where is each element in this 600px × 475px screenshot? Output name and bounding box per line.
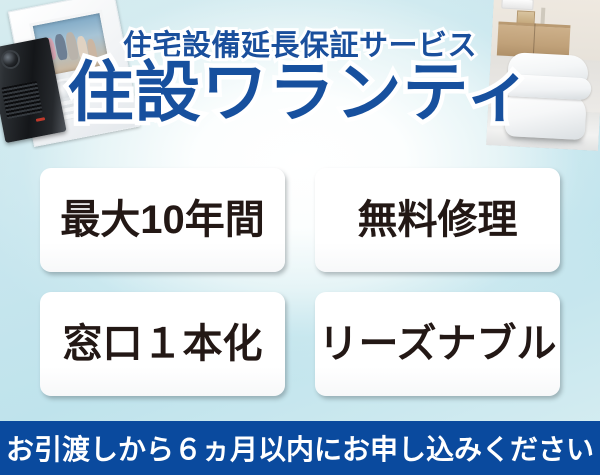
wall-unit bbox=[501, 0, 534, 10]
feature-box-reasonable: リーズナブル bbox=[315, 292, 560, 396]
feature-box-single-contact: 窓口１本化 bbox=[40, 292, 285, 396]
promo-banner: 住宅設備延長保証サービス 住設ワランティ 最大10年間 無料修理 窓口１本化 リ… bbox=[0, 0, 600, 475]
toilet-washlet-photo bbox=[486, 0, 600, 151]
feature-box-free-repair: 無料修理 bbox=[315, 168, 560, 272]
feature-box-max-years: 最大10年間 bbox=[40, 168, 285, 272]
video-intercom-photo bbox=[0, 0, 146, 150]
feature-label: 窓口１本化 bbox=[63, 324, 263, 364]
application-deadline-text: お引渡しから６ヵ月以内にお申し込みください bbox=[6, 428, 594, 468]
feature-grid: 最大10年間 無料修理 窓口１本化 リーズナブル bbox=[40, 168, 560, 396]
feature-label: 無料修理 bbox=[358, 200, 518, 240]
feature-label: 最大10年間 bbox=[60, 200, 265, 240]
toilet-seat bbox=[501, 74, 592, 101]
application-deadline-bar: お引渡しから６ヵ月以内にお申し込みください bbox=[0, 421, 600, 475]
feature-label: リーズナブル bbox=[319, 324, 557, 364]
intercom-speaker-grille bbox=[1, 81, 42, 119]
